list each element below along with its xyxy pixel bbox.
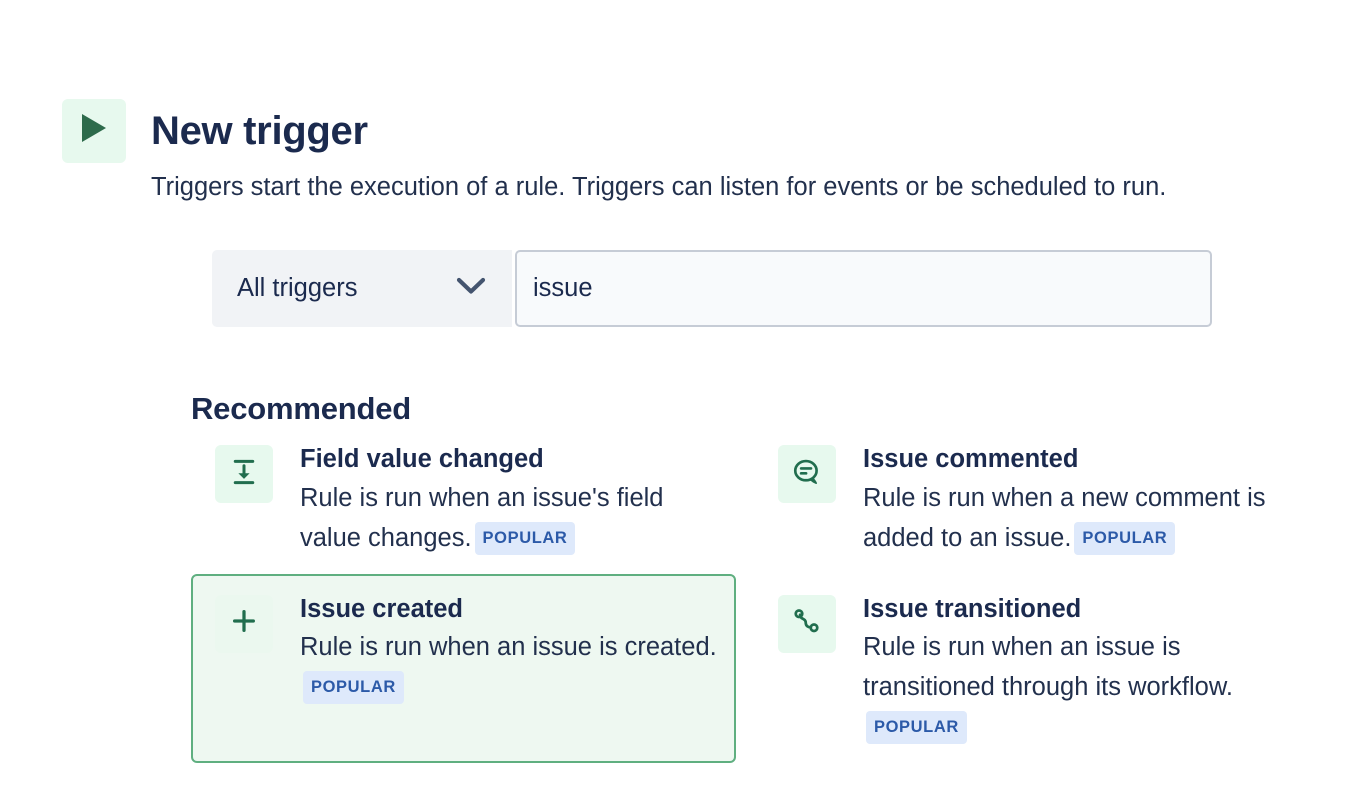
page-subtitle: Triggers start the execution of a rule. … (151, 172, 1166, 204)
branch-transition-icon (792, 606, 822, 641)
trigger-card-description-text: Rule is run when an issue is transitione… (863, 633, 1233, 701)
new-trigger-page: New trigger Triggers start the execution… (0, 0, 1356, 802)
trigger-card-icon-tile (215, 595, 273, 653)
trigger-card-title: Field value changed (300, 443, 720, 476)
trigger-filter-row: All triggers (212, 250, 1212, 327)
page-title: New trigger (151, 111, 368, 151)
trigger-card-title: Issue transitioned (863, 593, 1283, 626)
trigger-card-icon-tile (778, 445, 836, 503)
play-triangle-icon (79, 112, 109, 149)
trigger-card-description: Rule is run when a new comment is added … (863, 478, 1283, 558)
recommended-trigger-grid: Field value changed Rule is run when an … (191, 424, 1321, 763)
trigger-card-description-text: Rule is run when an issue is created. (300, 633, 717, 661)
trigger-card-body: Issue created Rule is run when an issue … (300, 592, 720, 708)
trigger-card-issue-commented[interactable]: Issue commented Rule is run when a new c… (754, 424, 1299, 574)
trigger-category-dropdown[interactable]: All triggers (212, 250, 512, 327)
chevron-down-icon (456, 277, 486, 301)
trigger-card-description-text: Rule is run when a new comment is added … (863, 484, 1266, 552)
trigger-card-icon-tile (778, 595, 836, 653)
plus-icon (229, 606, 259, 641)
field-value-changed-icon (229, 457, 259, 492)
trigger-card-icon-tile (215, 445, 273, 503)
trigger-card-field-value-changed[interactable]: Field value changed Rule is run when an … (191, 424, 736, 574)
status-badge: POPULAR (866, 711, 967, 744)
recommended-section-title: Recommended (191, 393, 411, 424)
trigger-card-issue-created[interactable]: Issue created Rule is run when an issue … (191, 574, 736, 764)
comment-bubble-icon (791, 456, 823, 493)
status-badge: POPULAR (475, 522, 576, 555)
trigger-header-icon-tile (62, 99, 126, 163)
trigger-card-description: Rule is run when an issue is transitione… (863, 627, 1283, 747)
status-badge: POPULAR (303, 671, 404, 704)
trigger-search-wrapper (515, 250, 1212, 327)
page-header: New trigger (62, 84, 368, 178)
trigger-card-title: Issue commented (863, 443, 1283, 476)
trigger-card-description: Rule is run when an issue is created.POP… (300, 627, 720, 707)
search-input[interactable] (515, 250, 1212, 327)
status-badge: POPULAR (1074, 522, 1175, 555)
trigger-card-issue-transitioned[interactable]: Issue transitioned Rule is run when an i… (754, 574, 1299, 764)
trigger-card-body: Field value changed Rule is run when an … (300, 442, 720, 558)
trigger-card-body: Issue commented Rule is run when a new c… (863, 442, 1283, 558)
trigger-card-description: Rule is run when an issue's field value … (300, 478, 720, 558)
trigger-card-title: Issue created (300, 593, 720, 626)
trigger-category-dropdown-label: All triggers (237, 276, 357, 302)
trigger-card-body: Issue transitioned Rule is run when an i… (863, 592, 1283, 748)
